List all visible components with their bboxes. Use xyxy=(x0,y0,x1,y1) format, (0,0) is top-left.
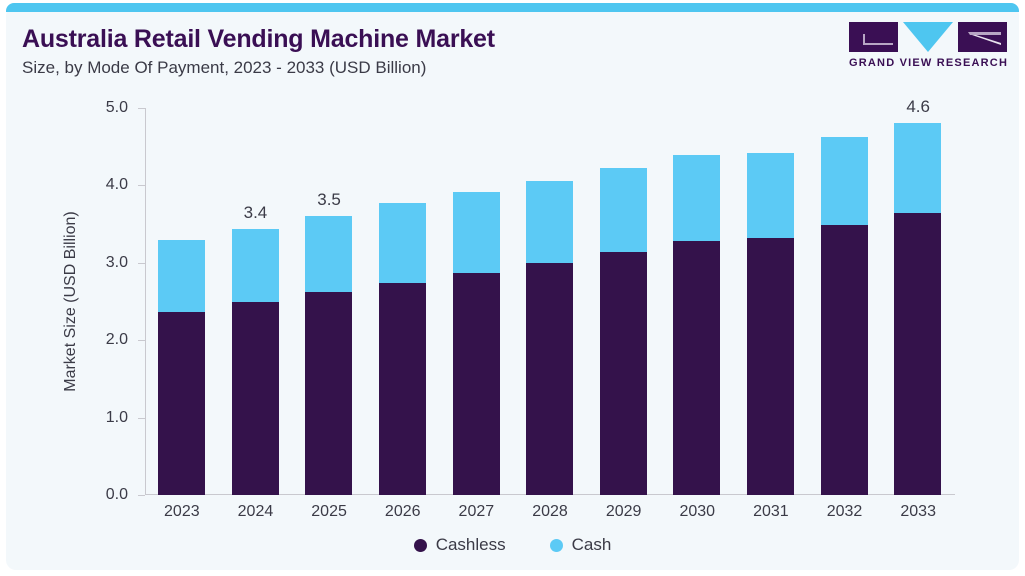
bar-segment-cash[interactable] xyxy=(673,155,720,241)
bar-group[interactable]: 2028 xyxy=(513,108,587,495)
bar-group[interactable]: 2031 xyxy=(734,108,808,495)
bar-group[interactable]: 4.62033 xyxy=(881,108,955,495)
bar-group[interactable]: 2023 xyxy=(145,108,219,495)
bar-group[interactable]: 2029 xyxy=(587,108,661,495)
stacked-bar[interactable] xyxy=(305,216,352,495)
bar-segment-cashless[interactable] xyxy=(526,263,573,495)
y-axis-tick: 0.0 xyxy=(138,495,145,496)
legend-label: Cashless xyxy=(436,535,506,555)
brand-logo: GRAND VIEW RESEARCH xyxy=(849,22,1007,74)
bar-value-label: 3.5 xyxy=(292,190,366,210)
y-axis-tick-label: 3.0 xyxy=(106,254,128,272)
y-axis-tick-label: 0.0 xyxy=(106,486,128,504)
y-axis-tick: 4.0 xyxy=(138,185,145,186)
stacked-bar[interactable] xyxy=(232,229,279,495)
bar-value-label: 4.6 xyxy=(881,97,955,117)
x-axis-tick-label: 2031 xyxy=(734,503,808,521)
x-axis-tick-label: 2033 xyxy=(881,503,955,521)
stacked-bar[interactable] xyxy=(821,137,868,495)
v-triangle-icon xyxy=(903,22,953,52)
x-axis-tick-label: 2026 xyxy=(366,503,440,521)
bar-segment-cashless[interactable] xyxy=(894,213,941,496)
y-axis-tick-label: 2.0 xyxy=(106,331,128,349)
bar-segment-cash[interactable] xyxy=(453,192,500,272)
stacked-bar[interactable] xyxy=(673,155,720,495)
y-axis-tick-label: 1.0 xyxy=(106,409,128,427)
x-axis-tick-label: 2028 xyxy=(513,503,587,521)
bar-segment-cash[interactable] xyxy=(600,168,647,252)
chart-legend: CashlessCash xyxy=(0,535,1025,555)
bar-segment-cashless[interactable] xyxy=(379,283,426,495)
bar-group[interactable]: 3.52025 xyxy=(292,108,366,495)
stacked-bar[interactable] xyxy=(453,192,500,495)
bar-group[interactable]: 2032 xyxy=(808,108,882,495)
bar-segment-cash[interactable] xyxy=(894,123,941,213)
legend-item-cashless[interactable]: Cashless xyxy=(414,535,506,555)
r-glyph-icon xyxy=(968,31,1001,45)
page-subtitle: Size, by Mode Of Payment, 2023 - 2033 (U… xyxy=(22,58,426,78)
bar-group[interactable]: 2030 xyxy=(660,108,734,495)
bar-segment-cashless[interactable] xyxy=(600,252,647,495)
y-axis-label: Market Size (USD Billion) xyxy=(62,108,82,495)
y-axis-tick-label: 5.0 xyxy=(106,99,128,117)
bar-segment-cash[interactable] xyxy=(379,203,426,283)
y-axis-tick: 1.0 xyxy=(138,418,145,419)
bar-segment-cashless[interactable] xyxy=(453,273,500,495)
g-glyph-icon xyxy=(863,34,893,45)
bar-segment-cash[interactable] xyxy=(821,137,868,224)
bar-value-label: 3.4 xyxy=(219,203,293,223)
plot-area: 0.01.02.03.04.05.020233.420243.520252026… xyxy=(145,108,955,495)
accent-top-bar xyxy=(6,3,1019,12)
page-title: Australia Retail Vending Machine Market xyxy=(22,25,495,54)
r-mark-icon xyxy=(958,22,1007,52)
bar-segment-cash[interactable] xyxy=(747,153,794,238)
x-axis-tick-label: 2029 xyxy=(587,503,661,521)
bar-segment-cash[interactable] xyxy=(232,229,279,303)
bar-segment-cash[interactable] xyxy=(305,216,352,293)
logo-marks xyxy=(849,22,1007,54)
bar-segment-cashless[interactable] xyxy=(232,302,279,495)
bar-segment-cash[interactable] xyxy=(526,181,573,263)
logo-wordmark: GRAND VIEW RESEARCH xyxy=(849,57,1007,69)
bar-group[interactable]: 3.42024 xyxy=(219,108,293,495)
chart-screenshot: Australia Retail Vending Machine Market … xyxy=(0,0,1025,576)
legend-swatch-icon xyxy=(414,539,427,552)
stacked-bar[interactable] xyxy=(158,240,205,495)
x-axis-tick-label: 2023 xyxy=(145,503,219,521)
legend-item-cash[interactable]: Cash xyxy=(550,535,612,555)
bar-group[interactable]: 2026 xyxy=(366,108,440,495)
x-axis-tick-label: 2024 xyxy=(219,503,293,521)
bar-segment-cashless[interactable] xyxy=(305,292,352,495)
stacked-bar[interactable] xyxy=(747,153,794,495)
bar-segment-cash[interactable] xyxy=(158,240,205,312)
stacked-bar[interactable] xyxy=(600,168,647,495)
x-axis-tick-label: 2027 xyxy=(440,503,514,521)
x-axis-tick-label: 2032 xyxy=(808,503,882,521)
y-axis-tick: 3.0 xyxy=(138,263,145,264)
stacked-bar[interactable] xyxy=(526,181,573,495)
legend-swatch-icon xyxy=(550,539,563,552)
bar-segment-cashless[interactable] xyxy=(747,238,794,495)
bar-segment-cashless[interactable] xyxy=(821,225,868,495)
y-axis-tick: 5.0 xyxy=(138,108,145,109)
bar-segment-cashless[interactable] xyxy=(158,312,205,495)
x-axis-tick-label: 2025 xyxy=(292,503,366,521)
stacked-bar[interactable] xyxy=(894,123,941,495)
legend-label: Cash xyxy=(572,535,612,555)
bar-segment-cashless[interactable] xyxy=(673,241,720,495)
bar-group[interactable]: 2027 xyxy=(440,108,514,495)
x-axis-tick-label: 2030 xyxy=(660,503,734,521)
stacked-bar[interactable] xyxy=(379,203,426,495)
y-axis-tick: 2.0 xyxy=(138,340,145,341)
g-mark-icon xyxy=(849,22,898,52)
y-axis-tick-label: 4.0 xyxy=(106,176,128,194)
